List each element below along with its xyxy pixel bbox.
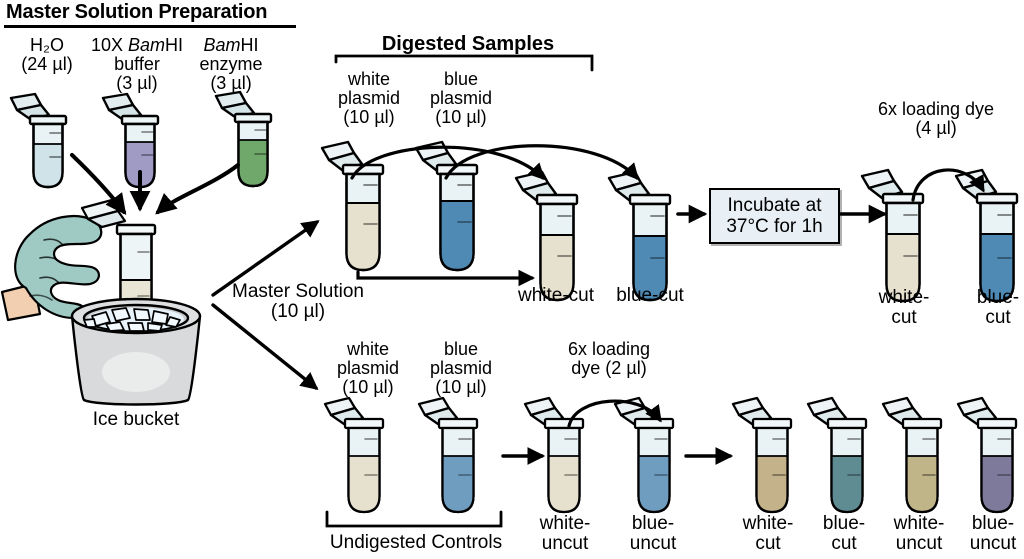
- undigested-controls-title: Undigested Controls: [330, 533, 502, 553]
- label-dye-bottom: 6x loading dye (2 µl): [568, 340, 650, 378]
- ice-bucket-label: Ice bucket: [93, 410, 180, 430]
- tube-enzyme[interactable]: [205, 88, 283, 192]
- tube-buffer[interactable]: [92, 92, 170, 192]
- final-tube-blue-uncut[interactable]: [955, 396, 1024, 526]
- buffer-volume: (3 µl): [116, 73, 157, 93]
- title-underline: [4, 25, 296, 28]
- final-label-blue-cut: blue- cut: [823, 514, 865, 554]
- tube-blue-uncut[interactable]: [612, 396, 686, 526]
- label-blue-plasmid-top: blue plasmid (10 µl): [430, 70, 492, 127]
- final-tube-white-uncut[interactable]: [880, 396, 954, 526]
- reagent-label-water: H₂O (24 µl): [21, 36, 72, 74]
- figure-canvas: Master Solution Preparation H₂O (24 µl) …: [0, 0, 1024, 559]
- bracket-digested-samples: [336, 56, 592, 70]
- final-tube-blue-cut[interactable]: [805, 396, 879, 526]
- reagent-label-buffer: 10X BamHI buffer (3 µl): [91, 36, 183, 93]
- final-label-white-uncut: white- uncut: [894, 514, 945, 554]
- tube-blue-plasmid-control[interactable]: [416, 396, 490, 526]
- label-blue-uncut: blue- uncut: [630, 514, 676, 554]
- tube-white-plasmid-control[interactable]: [322, 396, 396, 526]
- label-dye-top: 6x loading dye (4 µl): [878, 100, 994, 138]
- ice-bucket: [62, 296, 210, 408]
- label-master-solution: Master Solution (10 µl): [232, 282, 364, 322]
- tube-white-plasmid-digest[interactable]: [318, 140, 398, 285]
- label-white-cut-top: white- cut: [879, 288, 930, 328]
- reagent-label-enzyme: BamHI enzyme (3 µl): [199, 36, 262, 93]
- label-blue-plasmid-bottom: blue plasmid (10 µl): [430, 340, 492, 397]
- tube-water[interactable]: [0, 92, 78, 192]
- label-white-cut-inline: white-cut: [518, 286, 594, 306]
- label-white-uncut: white- uncut: [540, 514, 591, 554]
- final-label-blue-uncut: blue- uncut: [970, 514, 1016, 554]
- water-volume: (24 µl): [21, 54, 72, 74]
- label-white-plasmid-top: white plasmid (10 µl): [338, 70, 400, 127]
- label-blue-cut-inline: blue-cut: [616, 286, 684, 306]
- page-title: Master Solution Preparation: [6, 1, 267, 24]
- final-label-white-cut: white- cut: [743, 514, 794, 554]
- incubate-box[interactable]: Incubate at 37°C for 1h: [709, 188, 840, 244]
- tube-white-uncut[interactable]: [522, 396, 596, 526]
- digested-samples-title: Digested Samples: [382, 34, 554, 55]
- water-name: H₂O: [30, 35, 64, 55]
- label-blue-cut-top: blue- cut: [977, 288, 1019, 328]
- final-tube-white-cut[interactable]: [730, 396, 804, 526]
- label-white-plasmid-bottom: white plasmid (10 µl): [337, 340, 399, 397]
- tube-blue-plasmid-digest[interactable]: [412, 140, 492, 285]
